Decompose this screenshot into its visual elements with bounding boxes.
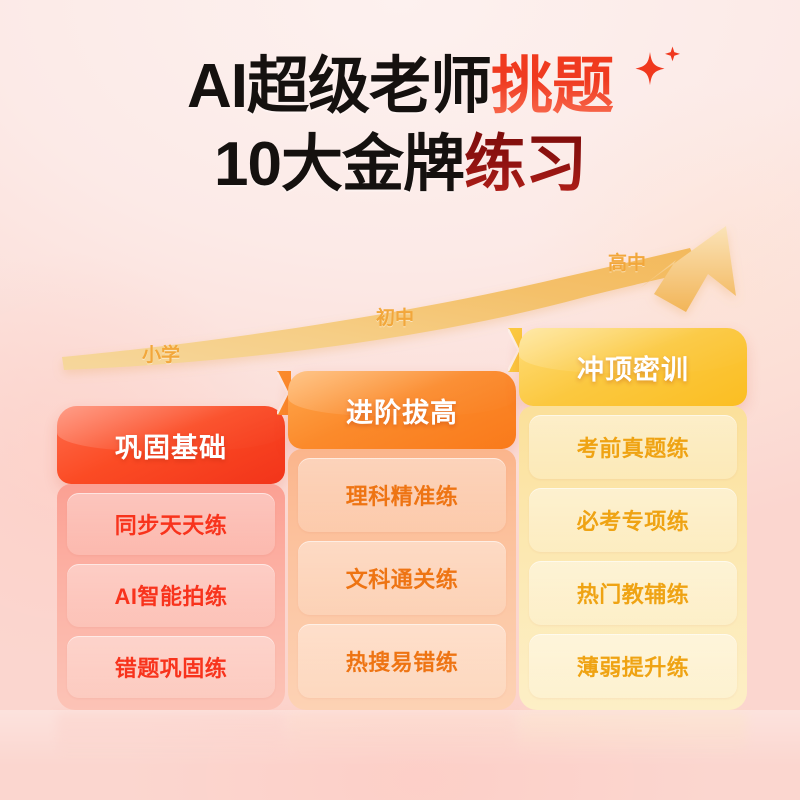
tier-header-primary[interactable]: 巩固基础 [57, 406, 285, 484]
list-item[interactable]: 热门教辅练 [529, 561, 737, 625]
tier-column-middle[interactable]: 进阶拔高 理科精准练 文科通关练 热搜易错练 [288, 371, 516, 710]
promo-poster: AI超级老师挑题 10大金牌练习 [0, 0, 800, 800]
tier-column-primary[interactable]: 巩固基础 同步天天练 AI智能拍练 错题巩固练 [57, 406, 285, 710]
list-item[interactable]: 理科精准练 [298, 458, 506, 532]
tier-column-high[interactable]: 冲顶密训 考前真题练 必考专项练 热门教辅练 薄弱提升练 [519, 328, 747, 710]
list-item[interactable]: 错题巩固练 [67, 636, 275, 698]
list-item[interactable]: 考前真题练 [529, 415, 737, 479]
tier-title-high: 冲顶密训 [577, 348, 689, 387]
list-item[interactable]: 同步天天练 [67, 493, 275, 555]
tier-items-primary: 同步天天练 AI智能拍练 错题巩固练 [57, 484, 285, 710]
tier-items-middle: 理科精准练 文科通关练 热搜易错练 [288, 449, 516, 710]
list-item[interactable]: 必考专项练 [529, 488, 737, 552]
tier-header-middle[interactable]: 进阶拔高 [288, 371, 516, 449]
tier-title-middle: 进阶拔高 [346, 391, 458, 430]
tier-columns: 巩固基础 同步天天练 AI智能拍练 错题巩固练 进阶拔高 理科精准练 文科通关练… [0, 0, 800, 800]
list-item[interactable]: 热搜易错练 [298, 624, 506, 698]
list-item[interactable]: 薄弱提升练 [529, 634, 737, 698]
list-item[interactable]: AI智能拍练 [67, 564, 275, 626]
tier-header-high[interactable]: 冲顶密训 [519, 328, 747, 406]
tier-title-primary: 巩固基础 [115, 426, 227, 465]
list-item[interactable]: 文科通关练 [298, 541, 506, 615]
tier-items-high: 考前真题练 必考专项练 热门教辅练 薄弱提升练 [519, 406, 747, 710]
